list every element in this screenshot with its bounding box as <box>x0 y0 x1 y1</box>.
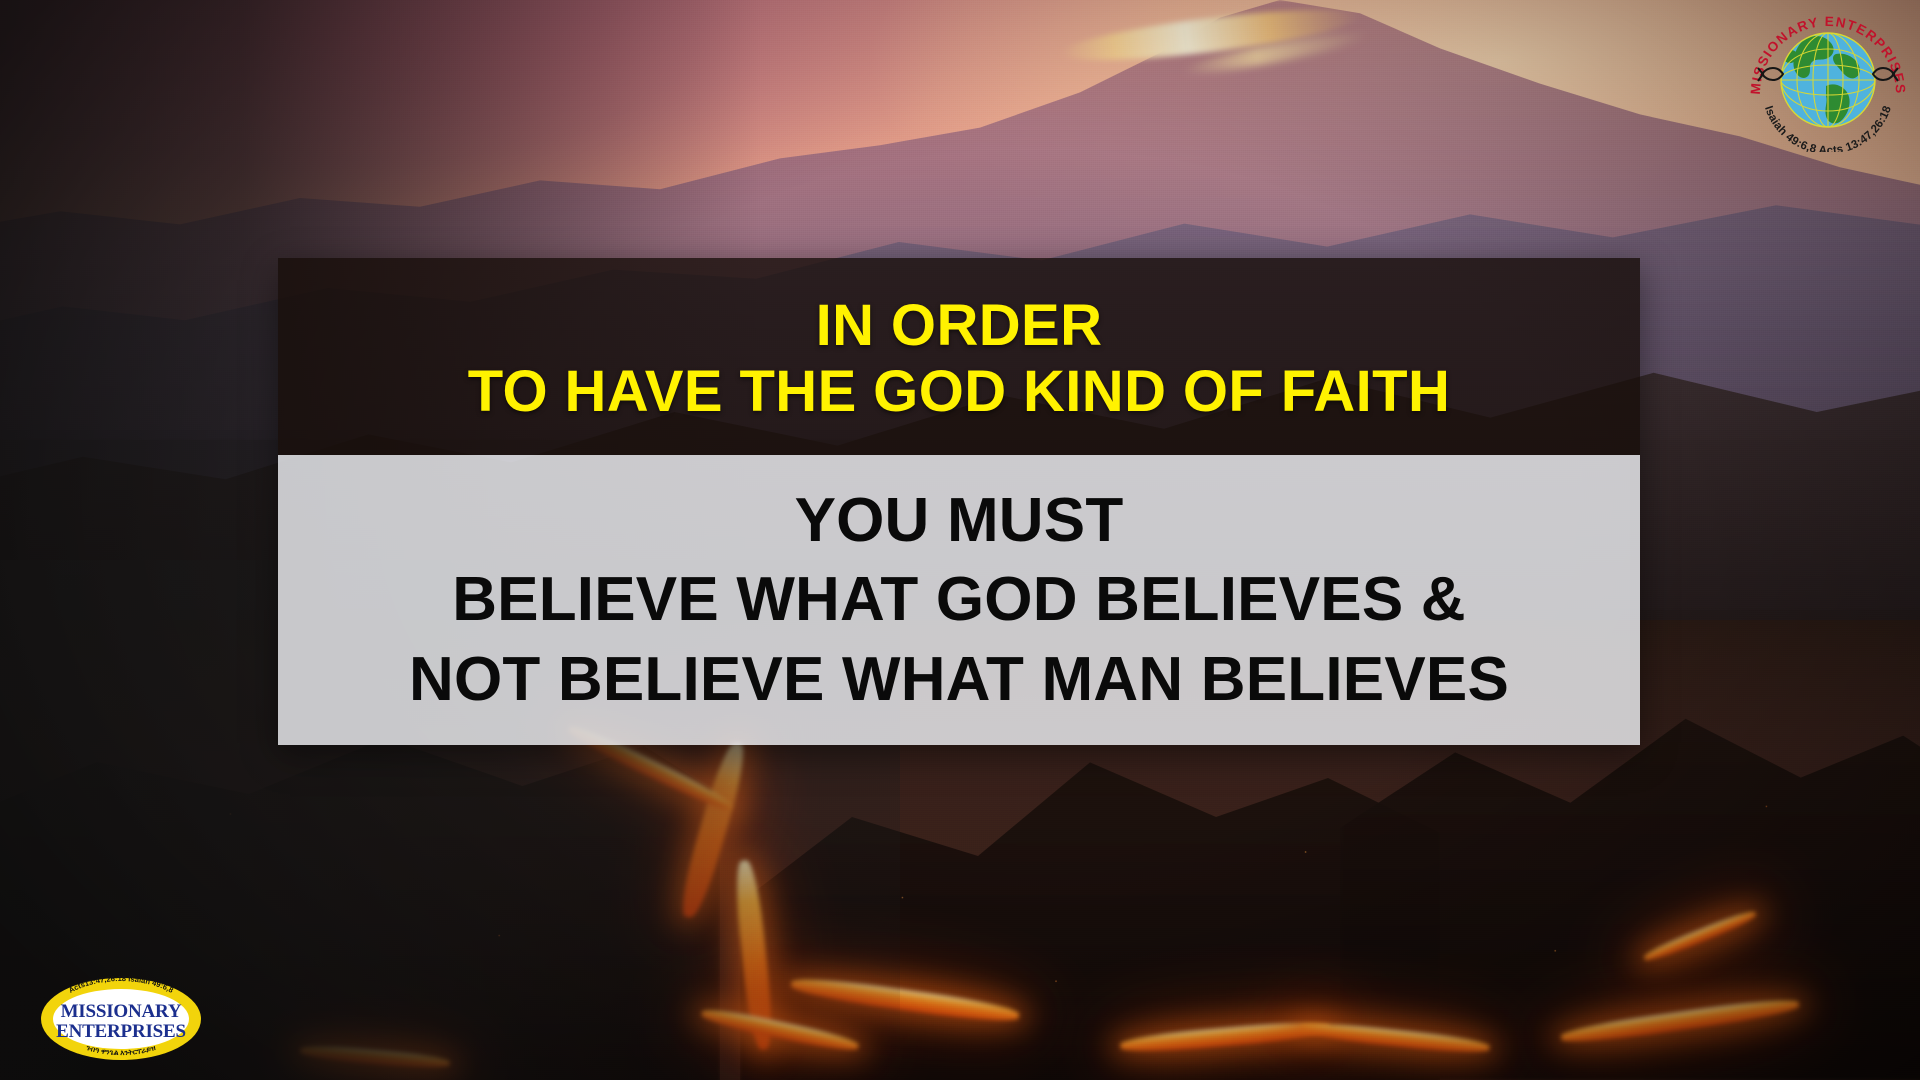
slide-root: IN ORDER TO HAVE THE GOD KIND OF FAITH Y… <box>0 0 1920 1080</box>
quote-line-5: NOT BELIEVE WHAT MAN BELIEVES <box>409 648 1509 711</box>
quote-line-1: IN ORDER <box>816 296 1103 355</box>
missionary-enterprises-globe-logo: MISSIONARY ENTERPRISES Isaiah 49:6,8 Act… <box>1742 2 1914 152</box>
quote-line-2: TO HAVE THE GOD KIND OF FAITH <box>468 362 1451 421</box>
oval-logo-line-1: MISSIONARY <box>61 1001 182 1022</box>
oval-logo-line-2: ENTERPRISES <box>56 1021 186 1042</box>
quote-panel-dark-block: IN ORDER TO HAVE THE GOD KIND OF FAITH <box>278 258 1640 455</box>
quote-line-4: BELIEVE WHAT GOD BELIEVES & <box>452 568 1466 631</box>
quote-panel-light-block: YOU MUST BELIEVE WHAT GOD BELIEVES & NOT… <box>278 455 1640 745</box>
quote-line-3: YOU MUST <box>795 489 1124 552</box>
quote-panel: IN ORDER TO HAVE THE GOD KIND OF FAITH Y… <box>278 258 1640 745</box>
missionary-enterprises-oval-logo: Acts13:47,26:18 Isaiah 49:6,8 ገብዓ ዋንጌል እ… <box>38 975 204 1063</box>
